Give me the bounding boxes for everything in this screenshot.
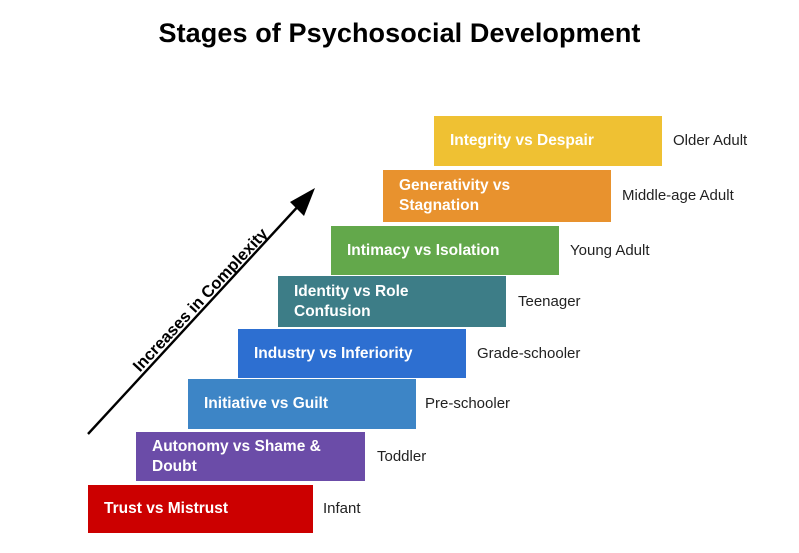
age-group-label: Pre-schooler <box>425 395 510 413</box>
stage-bar[interactable]: Integrity vs Despair <box>434 116 662 166</box>
stage-label: Initiative vs Guilt <box>204 394 328 414</box>
stage-bar[interactable]: Industry vs Inferiority <box>238 329 466 378</box>
stage-bar[interactable]: Autonomy vs Shame & Doubt <box>136 432 365 481</box>
stage-bar[interactable]: Intimacy vs Isolation <box>331 226 559 275</box>
diagram-canvas: Stages of Psychosocial Development Incre… <box>0 0 799 553</box>
stage-label: Intimacy vs Isolation <box>347 241 499 261</box>
age-group-label: Toddler <box>377 448 426 466</box>
stage-label: Integrity vs Despair <box>450 131 594 151</box>
age-group-label: Middle-age Adult <box>622 187 734 205</box>
stage-label: Autonomy vs Shame & Doubt <box>152 437 321 477</box>
age-group-label: Older Adult <box>673 132 747 150</box>
stage-label: Identity vs Role Confusion <box>294 282 409 322</box>
age-group-label: Grade-schooler <box>477 345 580 363</box>
stage-bar[interactable]: Trust vs Mistrust <box>88 485 313 533</box>
stage-bar[interactable]: Identity vs Role Confusion <box>278 276 506 327</box>
stage-bar[interactable]: Initiative vs Guilt <box>188 379 416 429</box>
stage-bar[interactable]: Generativity vs Stagnation <box>383 170 611 222</box>
age-group-label: Young Adult <box>570 242 650 260</box>
age-group-label: Infant <box>323 500 361 518</box>
age-group-label: Teenager <box>518 293 581 311</box>
stage-label: Generativity vs Stagnation <box>399 176 510 216</box>
stage-label: Trust vs Mistrust <box>104 499 228 519</box>
page-title: Stages of Psychosocial Development <box>0 18 799 49</box>
stage-label: Industry vs Inferiority <box>254 344 412 364</box>
